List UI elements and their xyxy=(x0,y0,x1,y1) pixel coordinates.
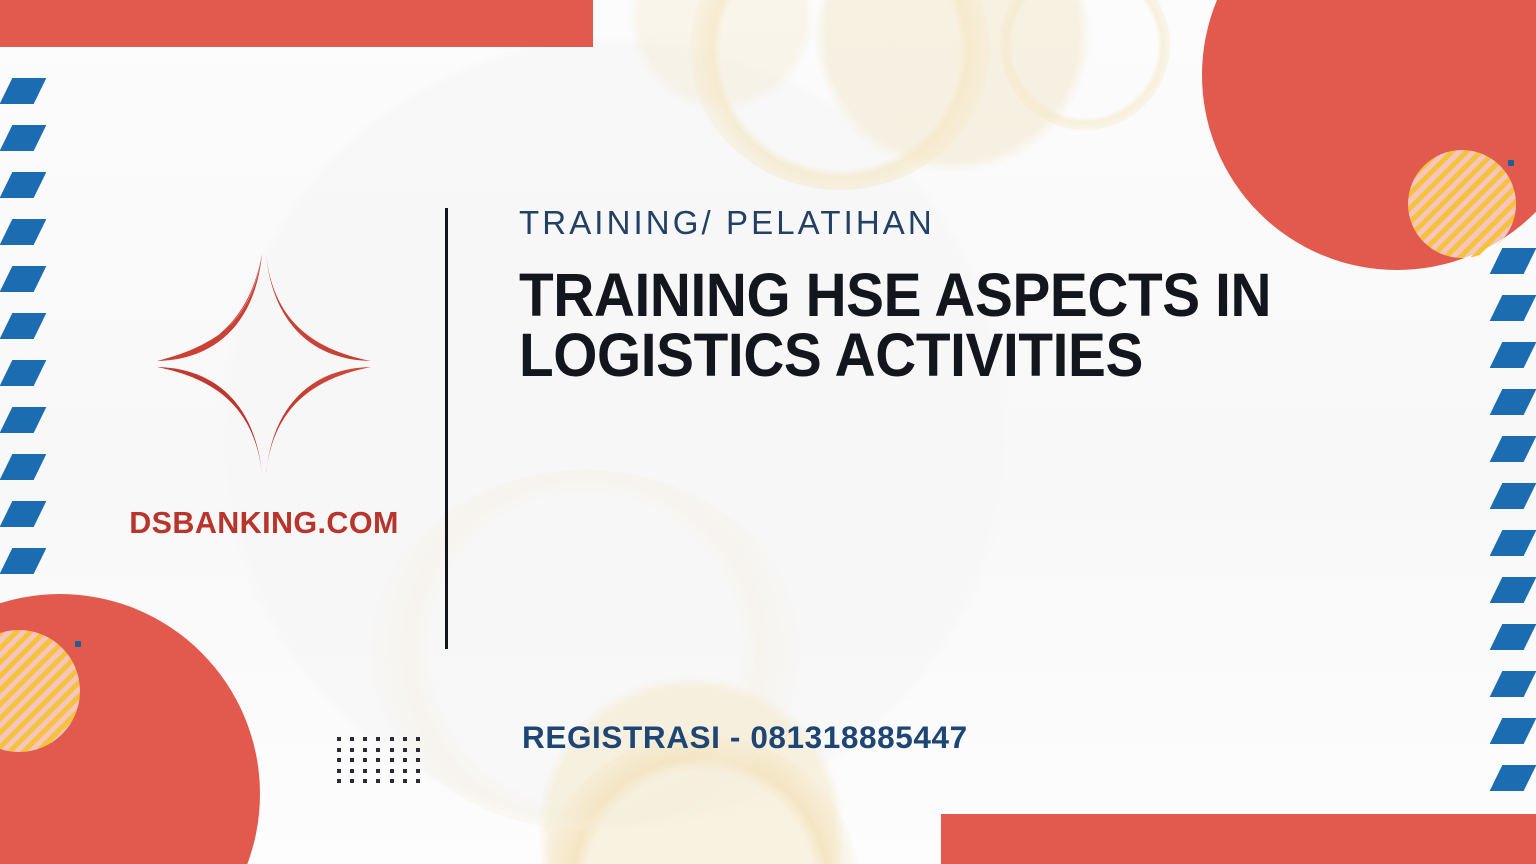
background-watermark-circle xyxy=(1000,0,1170,130)
grid-dot xyxy=(337,779,341,783)
grid-dot xyxy=(416,769,420,773)
grid-dot xyxy=(376,758,380,762)
diamond-star-logo-icon xyxy=(151,248,377,480)
grid-dot xyxy=(403,769,407,773)
grid-dot xyxy=(363,748,367,752)
poster-canvas: DSBANKING.COM TRAINING/ PELATIHAN TRAINI… xyxy=(0,0,1536,864)
diagonal-stripe xyxy=(0,172,46,198)
grid-dot xyxy=(390,758,394,762)
grid-dot xyxy=(350,737,354,741)
page-title-line-1: TRAINING HSE ASPECTS IN xyxy=(519,265,1375,325)
grid-dot xyxy=(337,758,341,762)
grid-dot xyxy=(363,737,367,741)
dot-grid-pattern xyxy=(337,737,429,790)
grid-dot xyxy=(390,769,394,773)
right-diagonal-stripes xyxy=(1496,248,1530,788)
grid-dot xyxy=(416,737,420,741)
headline-block: TRAINING/ PELATIHAN TRAINING HSE ASPECTS… xyxy=(519,205,1439,386)
diagonal-stripe xyxy=(1490,389,1536,415)
grid-dot xyxy=(363,769,367,773)
brand-wordmark: DSBANKING.COM xyxy=(96,506,432,541)
diagonal-stripe xyxy=(1490,718,1536,744)
grid-dot xyxy=(403,779,407,783)
diagonal-stripe xyxy=(0,548,46,574)
grid-dot xyxy=(337,737,341,741)
registration-contact: REGISTRASI - 081318885447 xyxy=(522,719,968,756)
grid-dot xyxy=(337,769,341,773)
diagonal-stripe xyxy=(1490,342,1536,368)
grid-dot xyxy=(403,737,407,741)
grid-dot xyxy=(376,737,380,741)
diagonal-stripe xyxy=(0,219,46,245)
grid-dot xyxy=(376,769,380,773)
eyebrow-label: TRAINING/ PELATIHAN xyxy=(519,205,1439,242)
grid-dot xyxy=(390,779,394,783)
top-left-coral-bar xyxy=(0,0,593,47)
diagonal-stripe xyxy=(1490,765,1536,791)
diagonal-stripe xyxy=(1490,483,1536,509)
diagonal-stripe xyxy=(0,125,46,151)
grid-dot xyxy=(403,748,407,752)
vertical-divider xyxy=(445,208,448,649)
page-title: TRAINING HSE ASPECTS IN LOGISTICS ACTIVI… xyxy=(519,265,1375,386)
accent-dot-icon xyxy=(1508,160,1514,166)
diagonal-stripe xyxy=(1490,295,1536,321)
grid-dot xyxy=(376,748,380,752)
grid-dot xyxy=(350,758,354,762)
grid-dot xyxy=(350,769,354,773)
grid-dot xyxy=(350,779,354,783)
diagonal-stripe xyxy=(1490,577,1536,603)
diagonal-stripe xyxy=(0,501,46,527)
grid-dot xyxy=(416,779,420,783)
diagonal-stripe xyxy=(0,360,46,386)
grid-dot xyxy=(390,748,394,752)
bottom-right-coral-bar xyxy=(941,814,1536,864)
left-diagonal-stripes xyxy=(6,78,40,578)
grid-dot xyxy=(416,758,420,762)
diagonal-stripe xyxy=(1490,436,1536,462)
diagonal-stripe xyxy=(1490,248,1536,274)
page-title-line-2: LOGISTICS ACTIVITIES xyxy=(519,325,1375,385)
diagonal-stripe xyxy=(0,454,46,480)
grid-dot xyxy=(363,758,367,762)
grid-dot xyxy=(376,779,380,783)
diagonal-stripe xyxy=(1490,624,1536,650)
grid-dot xyxy=(416,748,420,752)
diagonal-stripe xyxy=(0,313,46,339)
background-watermark-circle xyxy=(370,470,800,830)
grid-dot xyxy=(363,779,367,783)
grid-dot xyxy=(403,758,407,762)
diagonal-stripe xyxy=(0,78,46,104)
grid-dot xyxy=(390,737,394,741)
diagonal-stripe xyxy=(1490,530,1536,556)
diagonal-stripe xyxy=(0,266,46,292)
background-watermark-circle xyxy=(690,0,990,190)
accent-dot-icon xyxy=(75,641,81,647)
grid-dot xyxy=(350,748,354,752)
diagonal-stripe xyxy=(0,407,46,433)
diagonal-stripe xyxy=(1490,671,1536,697)
grid-dot xyxy=(337,748,341,752)
brand-logo-block: DSBANKING.COM xyxy=(96,248,432,541)
